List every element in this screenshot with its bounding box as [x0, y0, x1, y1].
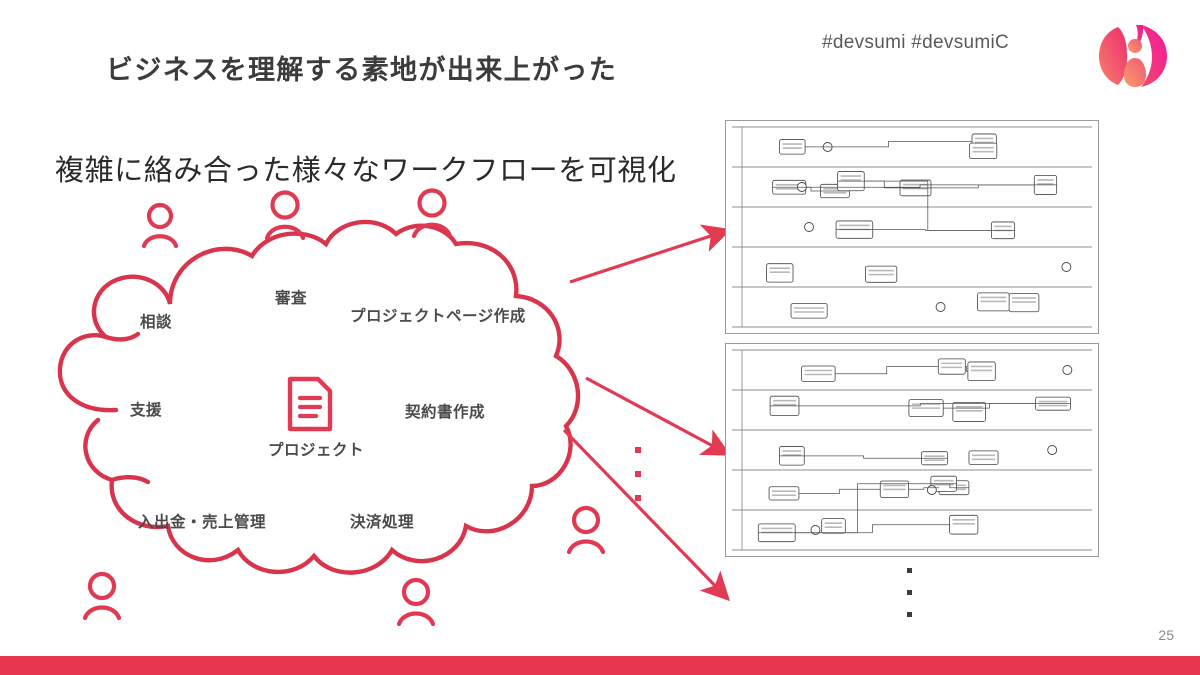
person-icon-4 [569, 508, 603, 552]
person-icon-5 [85, 574, 119, 618]
person-icon-1 [144, 205, 176, 246]
person-icon-2 [267, 193, 303, 239]
devsumi-logo [1096, 20, 1170, 92]
slide-canvas: #devsumi #devsumiC [0, 0, 1200, 675]
page-title: ビジネスを理解する素地が出来上がった [106, 48, 617, 87]
cloud-label-soudan: 相談 [140, 310, 172, 332]
workflow-diagram-canvas [726, 344, 1098, 556]
cloud-label-project: プロジェクト [268, 438, 364, 460]
hashtags-text: #devsumi #devsumiC [822, 32, 1009, 54]
cloud-label-project-page: プロジェクトページ作成 [350, 304, 526, 326]
workflow-cloud: 相談 審査 プロジェクトページ作成 支援 契約書作成 入出金・売上管理 決済処理… [20, 180, 660, 630]
document-icon [285, 375, 335, 433]
bottom-accent-bar [0, 656, 1200, 675]
cloud-label-shinsa: 審査 [275, 286, 307, 308]
workflow-diagram-canvas [726, 121, 1098, 333]
cloud-label-nyushukkin: 入出金・売上管理 [138, 510, 266, 532]
person-icon-group [85, 191, 603, 625]
cloud-label-kessai: 決済処理 [350, 510, 414, 532]
workflow-diagram-1[interactable] [725, 120, 1099, 334]
person-icon-6 [399, 580, 433, 624]
ellipsis-between-diagrams [635, 447, 641, 519]
ellipsis-below-diagrams [907, 568, 912, 634]
cloud-label-keiyakusho: 契約書作成 [405, 400, 485, 422]
workflow-diagram-2[interactable] [725, 343, 1099, 557]
cloud-label-shien: 支援 [130, 398, 162, 420]
page-number: 25 [1158, 627, 1174, 643]
